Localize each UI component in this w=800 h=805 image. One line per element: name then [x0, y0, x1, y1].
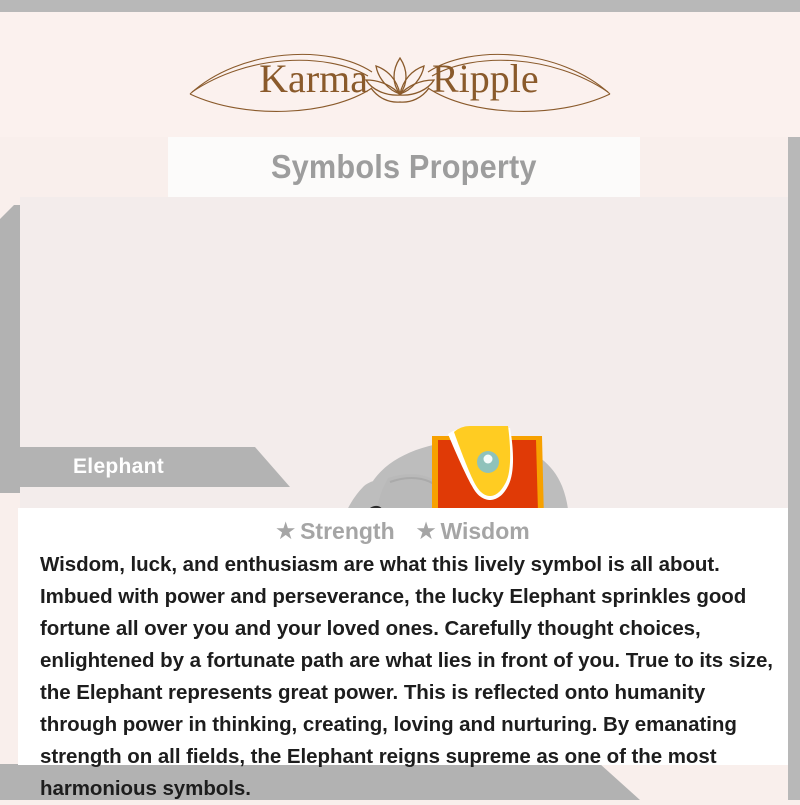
header: Karma Ripple [0, 12, 800, 137]
attributes-row: ★ Strength ★ Wisdom [18, 508, 788, 545]
frame-left-bar [0, 205, 20, 493]
star-icon: ★ [417, 521, 436, 542]
symbol-description: Wisdom, luck, and enthusiasm are what th… [18, 545, 788, 805]
title-band: Symbols Property [168, 137, 640, 197]
brand-logo: Karma Ripple [0, 28, 800, 124]
logo-text-left: Karma [259, 56, 368, 101]
star-icon: ★ [276, 521, 295, 542]
symbol-name-label: Elephant [73, 455, 164, 479]
logo-flourish-icon [190, 54, 610, 111]
saddle-gem-highlight [484, 455, 493, 464]
attribute-strength: ★ Strength [276, 518, 394, 545]
frame-top-bar [0, 0, 800, 12]
attribute-wisdom: ★ Wisdom [417, 518, 530, 545]
description-panel: ★ Strength ★ Wisdom Wisdom, luck, and en… [18, 508, 788, 765]
attribute-label: Strength [300, 518, 395, 545]
logo-text-right: Ripple [432, 56, 539, 101]
symbol-name-banner: Elephant [20, 447, 290, 487]
page-title: Symbols Property [271, 148, 537, 186]
lotus-icon [366, 58, 434, 102]
attribute-label: Wisdom [440, 518, 529, 545]
